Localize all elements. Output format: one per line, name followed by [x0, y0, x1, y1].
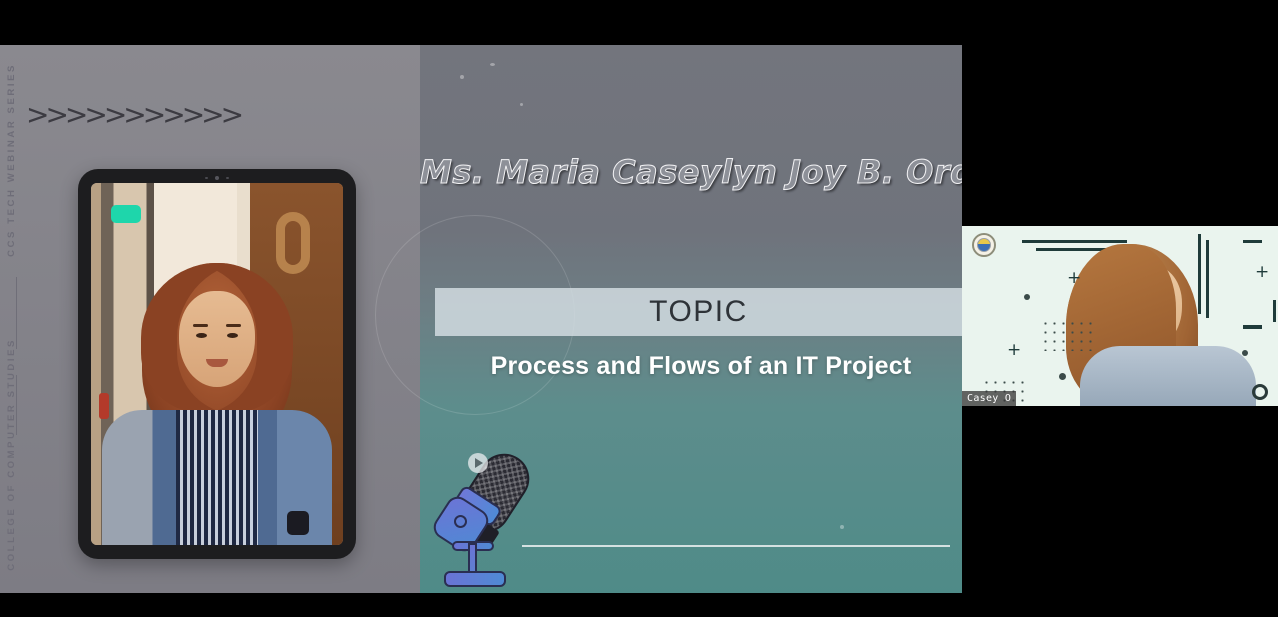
- slide-bottom-rule: [522, 545, 950, 547]
- plus-sign-icon: +: [1007, 342, 1021, 359]
- play-icon[interactable]: [468, 453, 488, 473]
- topic-title: Process and Flows of an IT Project: [480, 350, 922, 382]
- sparkle: [520, 103, 523, 106]
- tablet-screen-photo: [91, 183, 343, 545]
- participant-name-label: Casey O: [962, 391, 1016, 406]
- plus-sign-icon: +: [1067, 270, 1081, 287]
- tablet-device-frame: [78, 169, 356, 559]
- camera-dot: [226, 177, 229, 180]
- sparkle: [840, 525, 844, 529]
- microphone-knob: [454, 515, 467, 528]
- microphone-base: [444, 571, 506, 587]
- speaker-portrait: [91, 263, 343, 545]
- screen-share-region: >>>>>>>>>>> CCS TECH WEBINAR SERIES COLL…: [0, 45, 962, 593]
- dot-icon: [1024, 294, 1030, 300]
- topic-banner: TOPIC: [435, 288, 962, 336]
- speaker-name-heading: Ms. Maria Caseylyn Joy B. Ordoña: [420, 153, 950, 191]
- photo-green-sign: [111, 205, 141, 223]
- slide-content-panel: Ms. Maria Caseylyn Joy B. Ordoña TOPIC P…: [420, 45, 962, 593]
- portrait-hair-front: [141, 263, 293, 413]
- topic-label: TOPIC: [649, 295, 748, 329]
- camera-lens-dot: [215, 176, 220, 181]
- plus-sign-icon: +: [1255, 264, 1269, 281]
- microphone-icon: [430, 443, 540, 593]
- portrait-watch: [287, 511, 309, 535]
- dot-icon: [1242, 350, 1248, 356]
- college-label: COLLEGE OF COMPUTER STUDIES: [6, 338, 17, 571]
- portrait-striped-shirt: [176, 410, 258, 545]
- webinar-series-label: CCS TECH WEBINAR SERIES: [6, 63, 17, 257]
- slide-left-rail: >>>>>>>>>>> CCS TECH WEBINAR SERIES COLL…: [0, 45, 420, 593]
- participant-shirt: [1080, 346, 1256, 406]
- circle-outline-icon: [1252, 384, 1268, 400]
- participant-video-tile[interactable]: + + + Casey O: [962, 226, 1278, 406]
- sparkle: [490, 63, 495, 66]
- chevron-arrows-icon: >>>>>>>>>>>: [26, 101, 240, 129]
- sparkle: [460, 75, 464, 79]
- dot-icon: [1059, 373, 1066, 380]
- camera-dot: [205, 177, 208, 180]
- dot-grid-icon: [1041, 319, 1093, 351]
- tablet-camera-icon: [78, 174, 356, 182]
